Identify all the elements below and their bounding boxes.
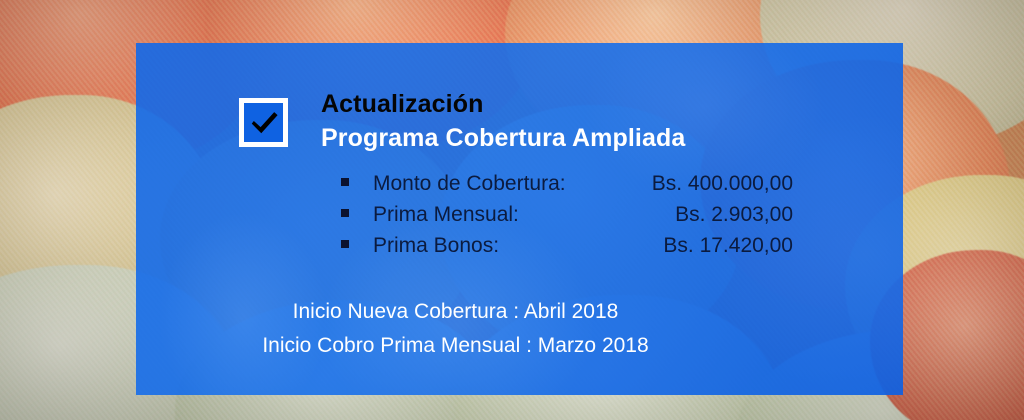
- blue-overlay-panel: Actualización Programa Cobertura Ampliad…: [136, 43, 903, 395]
- list-item-label: Monto de Cobertura:: [373, 172, 566, 196]
- square-bullet-icon: [341, 240, 349, 248]
- list-item: Prima Bonos: Bs. 17.420,00: [341, 234, 793, 265]
- list-item-label: Prima Mensual:: [373, 203, 519, 227]
- panel-content: Actualización Programa Cobertura Ampliad…: [136, 43, 903, 395]
- list-item-value: Bs. 2.903,00: [519, 203, 793, 227]
- page-title-primary: Actualización: [321, 92, 685, 117]
- list-item-label: Prima Bonos:: [373, 234, 499, 258]
- title-block: Actualización Programa Cobertura Ampliad…: [321, 92, 685, 151]
- list-item: Monto de Cobertura: Bs. 400.000,00: [341, 172, 793, 203]
- page-title-secondary: Programa Cobertura Ampliada: [321, 126, 685, 151]
- start-dates-block: Inicio Nueva Cobertura : Abril 2018 Inic…: [136, 295, 903, 363]
- square-bullet-icon: [341, 178, 349, 186]
- start-date-line-coverage: Inicio Nueva Cobertura : Abril 2018: [136, 295, 903, 329]
- list-item-value: Bs. 17.420,00: [499, 234, 793, 258]
- checked-checkbox-icon: [239, 98, 288, 147]
- header-row: Actualización Programa Cobertura Ampliad…: [239, 96, 685, 151]
- coverage-details-list: Monto de Cobertura: Bs. 400.000,00 Prima…: [341, 172, 793, 265]
- square-bullet-icon: [341, 209, 349, 217]
- slide-stage: Actualización Programa Cobertura Ampliad…: [0, 0, 1024, 420]
- list-item-value: Bs. 400.000,00: [566, 172, 793, 196]
- list-item: Prima Mensual: Bs. 2.903,00: [341, 203, 793, 234]
- start-date-line-premium: Inicio Cobro Prima Mensual : Marzo 2018: [136, 329, 903, 363]
